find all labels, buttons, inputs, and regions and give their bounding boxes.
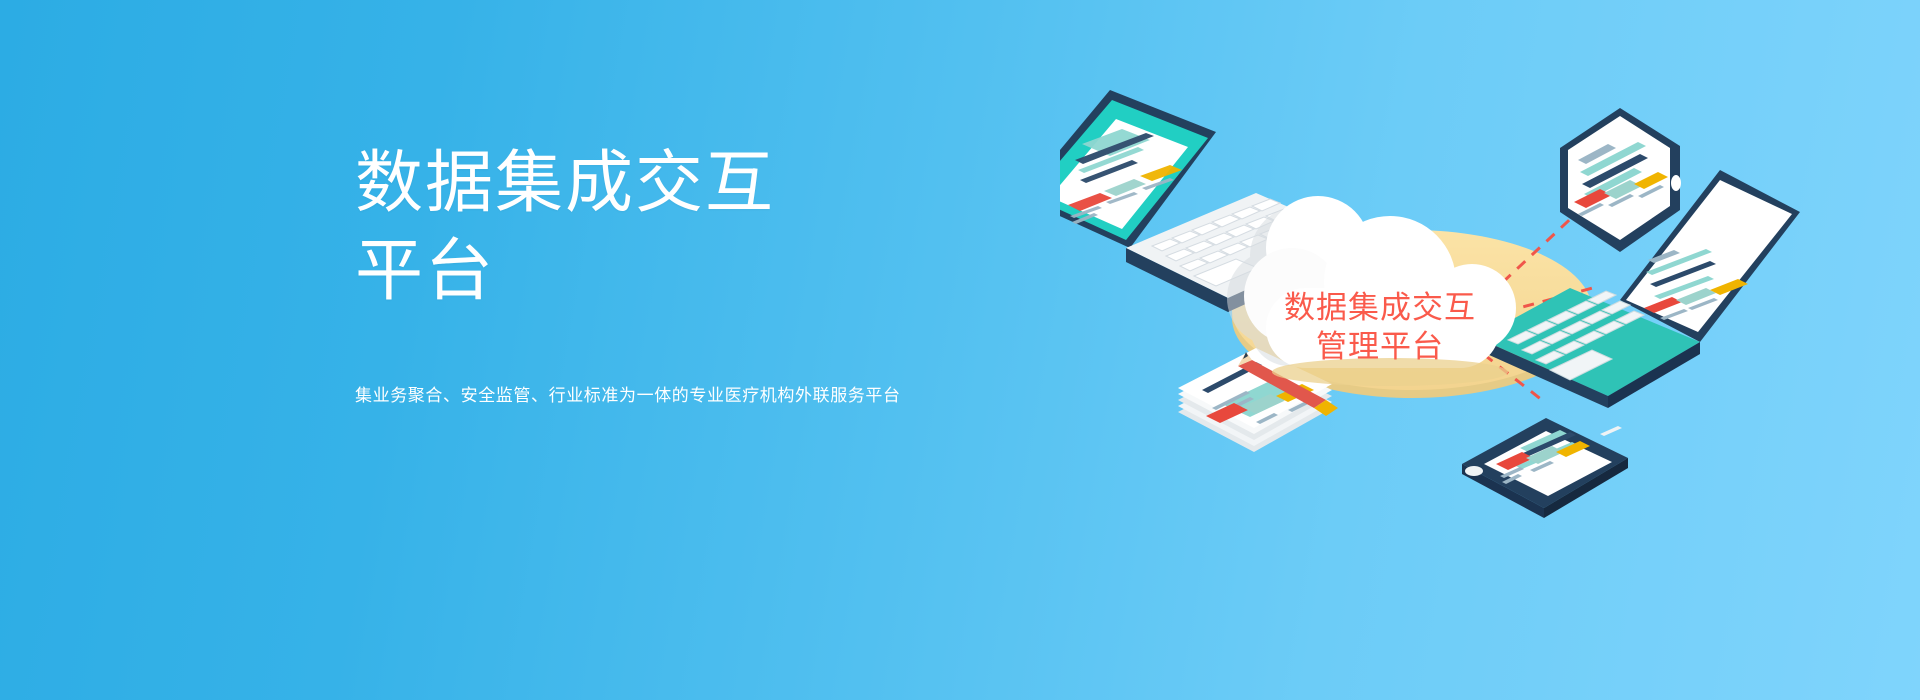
device-smartphone bbox=[1462, 418, 1628, 518]
hero-text-block: 数据集成交互 平台 集业务聚合、安全监管、行业标准为一体的专业医疗机构外联服务平… bbox=[355, 140, 1035, 316]
cloud-label-line1: 数据集成交互 bbox=[1284, 290, 1476, 326]
device-tablet bbox=[1560, 108, 1681, 252]
cloud-label-line2: 管理平台 bbox=[1316, 329, 1444, 365]
page-subtitle: 集业务聚合、安全监管、行业标准为一体的专业医疗机构外联服务平台 bbox=[355, 383, 901, 409]
hero-illustration: 数据集成交互 管理平台 bbox=[1060, 60, 1860, 600]
page-title: 数据集成交互 平台 bbox=[355, 140, 1035, 316]
hero-banner: 数据集成交互 平台 集业务聚合、安全监管、行业标准为一体的专业医疗机构外联服务平… bbox=[0, 0, 1920, 700]
